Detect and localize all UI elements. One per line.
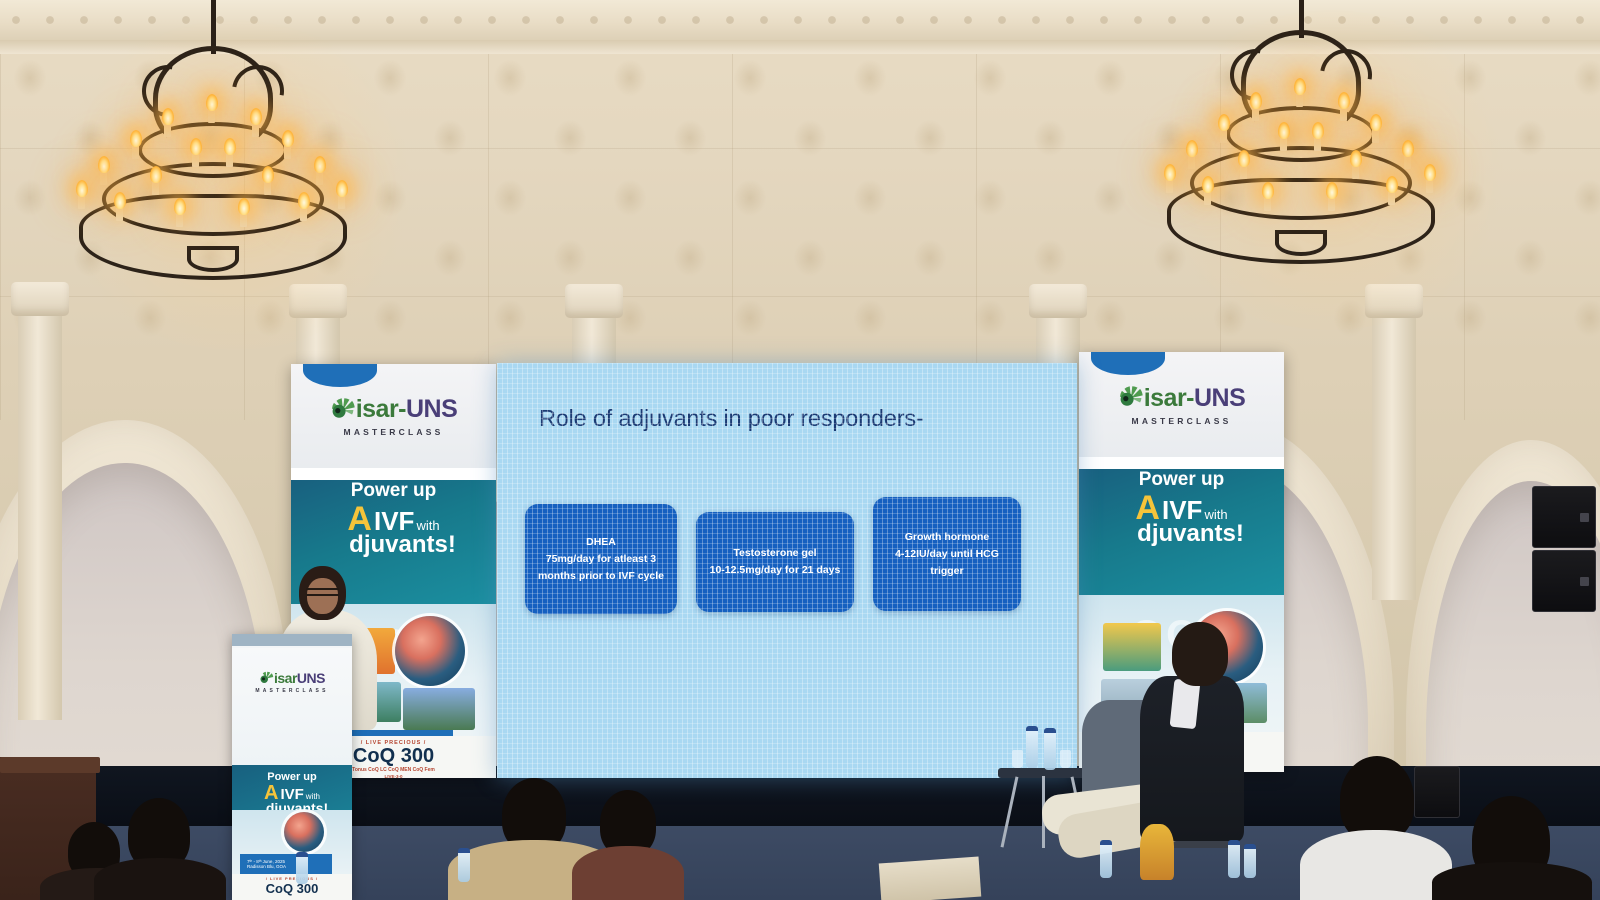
panelist-2-shirt (1170, 679, 1201, 729)
chandelier-flame (1350, 150, 1362, 167)
audience-shoulders (1300, 830, 1452, 900)
chandelier-flame (1338, 92, 1350, 109)
sponsor-name: CoQ 300 (232, 881, 352, 896)
isar-fan-icon (259, 671, 274, 686)
water-bottle (458, 848, 470, 882)
isar-uns-logo: isar - UNS MASTERCLASS (1079, 384, 1284, 426)
tagline-adjuvants-row: djuvants! (1079, 520, 1284, 548)
logo-text-isar: isar (274, 670, 297, 686)
tagline-exclamation: ! (448, 531, 456, 558)
podium-surface (232, 634, 352, 646)
logo-text-isar: isar (1144, 384, 1186, 413)
chandelier-flame (76, 180, 88, 197)
chandelier-flame (1294, 78, 1306, 95)
line-array-speaker-top (1532, 486, 1596, 548)
chandelier-flame (1186, 140, 1198, 157)
chandelier-flame (250, 108, 262, 125)
standee-blue-accent (303, 364, 377, 387)
presenter-face (307, 578, 338, 614)
chandelier-flame (1386, 176, 1398, 193)
chandelier-flame (1238, 150, 1250, 167)
panelist-2-hair (1172, 622, 1228, 686)
audience-shoulders (572, 846, 684, 900)
paper-on-floor (879, 857, 982, 900)
podium-logo: isar UNS (232, 648, 352, 686)
adjuvant-name: DHEA (538, 534, 664, 551)
embryo-illustration (284, 812, 324, 852)
chandelier-flame (174, 198, 186, 215)
adjuvant-box-row: DHEA 75mg/day for atleast 3 months prior… (525, 493, 1049, 614)
chandelier-flame (98, 156, 110, 173)
sponsor-strip: / LIVE PRECIOUS / CoQ 300 (232, 874, 352, 900)
chandelier-flame (298, 192, 310, 209)
chandelier-flame (114, 192, 126, 209)
date-venue-bar: 7ᵗʰ - 8ᵗʰ June, 2025 Radisson Blu, GOA (240, 854, 332, 874)
embryo-illustration (395, 616, 465, 686)
adjuvant-duration: months prior to IVF cycle (538, 568, 664, 585)
chandelier-flame (238, 198, 250, 215)
logo-wordmark: isar - UNS (330, 395, 458, 424)
standee-tagline: Power up A IVF with djuvants! (1079, 469, 1284, 595)
ceiling-cornice (0, 0, 1600, 44)
wooden-lectern-top (0, 757, 100, 773)
chandelier-flame (1424, 164, 1436, 181)
line-array-speaker-bottom (1532, 550, 1596, 612)
arch-capital-r (1365, 284, 1423, 318)
tagline-adjuvants-row: djuvants! (291, 531, 496, 559)
arch-column-left (18, 300, 62, 720)
chandelier-flame (190, 138, 202, 155)
tagline-exclamation: ! (1236, 520, 1244, 547)
event-venue: Radisson Blu, GOA (247, 864, 332, 869)
chandelier-flame (224, 138, 236, 155)
chandelier-flame (1250, 92, 1262, 109)
standee-blue-accent (1091, 352, 1165, 375)
isar-fan-icon (330, 397, 356, 423)
chandelier-flame (1262, 182, 1274, 199)
adjuvant-box-testosterone: Testosterone gel 10-12.5mg/day for 21 da… (696, 512, 854, 612)
chandelier-flame (130, 130, 142, 147)
floor-monitor (1414, 766, 1460, 818)
chandelier-flame (162, 108, 174, 125)
logo-text-uns: UNS (297, 670, 325, 686)
standee-header: isar - UNS MASTERCLASS (291, 364, 496, 468)
logo-wordmark: isar - UNS (1118, 384, 1246, 413)
water-bottle (1100, 840, 1112, 878)
floral-arrangement (1140, 824, 1174, 880)
logo-text-dash: - (398, 395, 406, 424)
speaker-grill (1580, 577, 1589, 586)
isar-uns-logo: isar - UNS MASTERCLASS (291, 395, 496, 437)
chandelier-flame (262, 166, 274, 183)
logo-text-uns: UNS (1194, 384, 1245, 413)
water-bottle (1228, 840, 1240, 878)
drinking-glass (1012, 750, 1023, 768)
podium-visual: 7ᵗʰ - 8ᵗʰ June, 2025 Radisson Blu, GOA /… (232, 810, 352, 900)
chandelier-flame (1164, 164, 1176, 181)
drinking-glass (1060, 750, 1071, 768)
arch-capital-c2 (1029, 284, 1087, 318)
chandelier-flame (1312, 122, 1324, 139)
chandelier-flame (314, 156, 326, 173)
audience-shoulders (94, 858, 226, 900)
slide-title: Role of adjuvants in poor responders- (539, 405, 1039, 432)
chandelier-flame (1370, 114, 1382, 131)
tagline-adjuvants: djuvants (349, 531, 448, 558)
cornice-scrollwork (0, 0, 1600, 41)
chandelier-left (212, 0, 214, 294)
arch-capital-c1 (565, 284, 623, 318)
adjuvant-dose: 10-12.5mg/day for 21 days (710, 562, 841, 579)
tagline-adjuvants: djuvants (1137, 520, 1236, 547)
conference-photo: isar - UNS MASTERCLASS Power up A IVF wi… (0, 0, 1600, 900)
chandelier-flame (336, 180, 348, 197)
water-bottle (1044, 728, 1056, 770)
isar-fan-icon (1118, 385, 1144, 411)
logo-text-uns: UNS (406, 395, 457, 424)
water-bottle (296, 852, 308, 884)
adjuvant-dose: 75mg/day for atleast 3 (538, 551, 664, 568)
chandelier-flame (1202, 176, 1214, 193)
presenter-glasses (306, 588, 339, 596)
chandelier-flame (1326, 182, 1338, 199)
arch-column-r (1372, 300, 1416, 600)
tagline-powerup: Power up (1079, 469, 1284, 491)
chandelier-flame (1218, 114, 1230, 131)
adjuvant-name: Growth hormone (895, 529, 999, 546)
logo-subtitle: MASTERCLASS (1132, 416, 1232, 426)
water-bottle (1026, 726, 1038, 768)
arch-capital-cl (289, 284, 347, 318)
podium: isar UNS MASTERCLASS Power up A IVF with… (232, 634, 352, 900)
presentation-screen: Role of adjuvants in poor responders- DH… (497, 363, 1077, 778)
photo-tile-coast (403, 688, 475, 730)
adjuvant-trigger: trigger (895, 563, 999, 580)
chandelier-right (1300, 0, 1302, 268)
adjuvant-dose: 4-12IU/day until HCG (895, 546, 999, 563)
arch-capital-left (11, 282, 69, 316)
chandelier-flame (150, 166, 162, 183)
tagline-powerup: Power up (291, 480, 496, 502)
chandelier-flame (206, 94, 218, 111)
speaker-grill (1580, 513, 1589, 522)
chandelier-flame (1402, 140, 1414, 157)
standee-header: isar - UNS MASTERCLASS (1079, 352, 1284, 457)
chandelier-flame (1278, 122, 1290, 139)
adjuvant-box-dhea: DHEA 75mg/day for atleast 3 months prior… (525, 504, 677, 614)
logo-text-dash: - (1186, 384, 1194, 413)
chandelier-base (187, 246, 239, 272)
chandelier-flame (282, 130, 294, 147)
photo-tile-sunset (1103, 623, 1161, 671)
logo-subtitle: MASTERCLASS (232, 688, 352, 694)
adjuvant-name: Testosterone gel (710, 545, 841, 562)
logo-subtitle: MASTERCLASS (344, 427, 444, 437)
podium-header-panel: isar UNS MASTERCLASS (232, 648, 352, 765)
chandelier-base (1275, 230, 1327, 256)
water-bottle (1244, 844, 1256, 878)
logo-text-isar: isar (356, 395, 398, 424)
adjuvant-box-growth-hormone: Growth hormone 4-12IU/day until HCG trig… (873, 497, 1021, 611)
audience-shoulders (1432, 862, 1592, 900)
